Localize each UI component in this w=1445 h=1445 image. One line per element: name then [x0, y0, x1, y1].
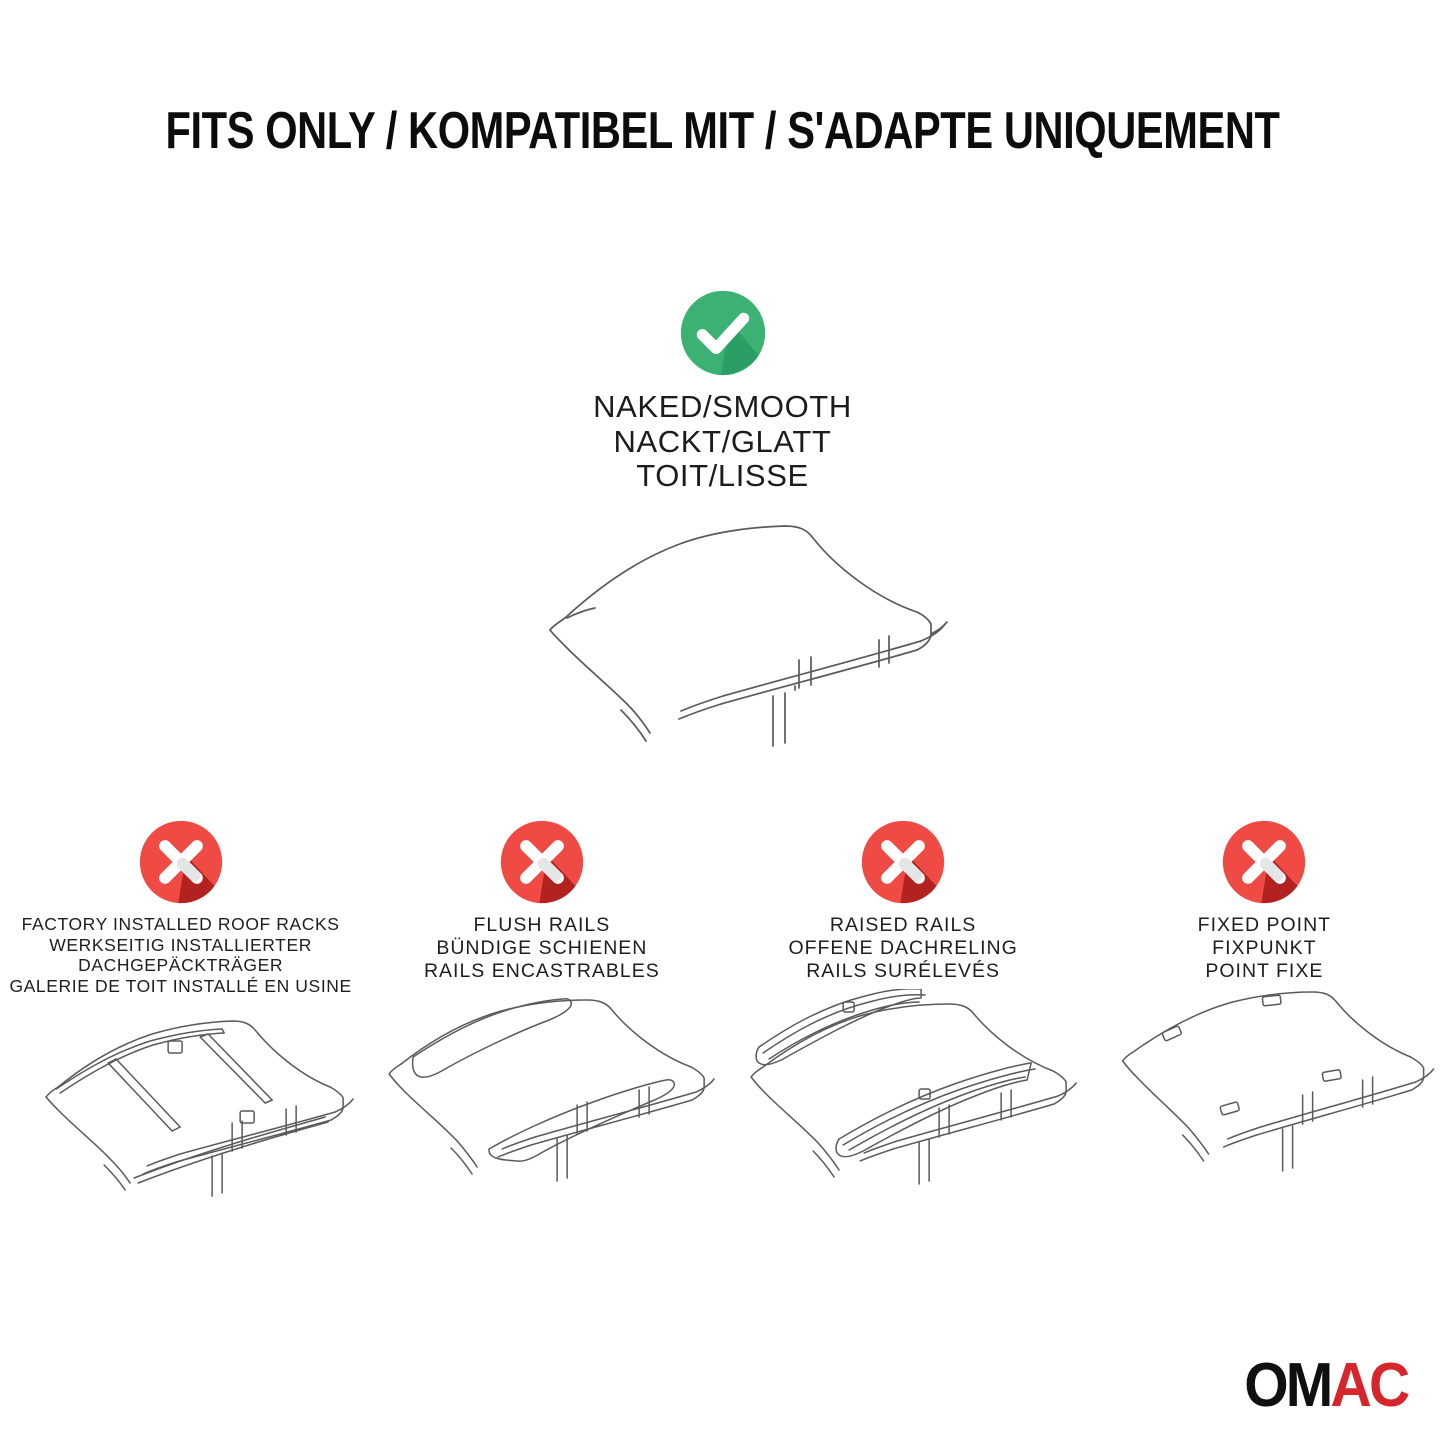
label-line-4: GALERIE DE TOIT INSTALLÉ EN USINE	[9, 976, 351, 997]
red-x-circle-icon	[1222, 820, 1306, 904]
logo-text-dark: OM	[1244, 1355, 1330, 1417]
label-line-2: OFFENE DACHRELING	[788, 937, 1017, 960]
label-line-2: WERKSEITIG INSTALLIERTER	[9, 935, 351, 956]
flush-rails-illustration	[361, 989, 722, 1224]
fixed-point-illustration	[1084, 989, 1445, 1224]
red-x-circle-icon	[500, 820, 584, 904]
factory-roof-rack-illustration	[0, 1003, 361, 1238]
label-line-3: POINT FIXE	[1198, 960, 1331, 983]
incompatible-item-fixed-point: FIXED POINT FIXPUNKT POINT FIXE	[1084, 820, 1445, 1224]
incompatible-item-flush-rails: FLUSH RAILS BÜNDIGE SCHIENEN RAILS ENCAS…	[361, 820, 722, 1224]
logo-text-red: AC	[1330, 1355, 1407, 1417]
page-title: FITS ONLY / KOMPATIBEL MIT / S'ADAPTE UN…	[145, 104, 1301, 159]
label-line-2: FIXPUNKT	[1198, 937, 1331, 960]
green-check-circle-icon	[680, 290, 766, 376]
omac-logo: OMAC	[1244, 1355, 1407, 1417]
incompatible-item-raised-rails: RAISED RAILS OFFENE DACHRELING RAILS SUR…	[723, 820, 1084, 1224]
label-line-2: BÜNDIGE SCHIENEN	[424, 937, 660, 960]
incompatible-item-label: FLUSH RAILS BÜNDIGE SCHIENEN RAILS ENCAS…	[424, 914, 660, 983]
compatible-label: NAKED/SMOOTH NACKT/GLATT TOIT/LISSE	[593, 390, 852, 494]
incompatible-grid: FACTORY INSTALLED ROOF RACKS WERKSEITIG …	[0, 820, 1445, 1300]
label-line-3: DACHGEPÄCKTRÄGER	[9, 955, 351, 976]
compatible-label-line-1: NAKED/SMOOTH	[593, 390, 852, 425]
infographic-page: FITS ONLY / KOMPATIBEL MIT / S'ADAPTE UN…	[0, 0, 1445, 1445]
incompatible-item-label: FIXED POINT FIXPUNKT POINT FIXE	[1198, 914, 1331, 983]
compatible-section: NAKED/SMOOTH NACKT/GLATT TOIT/LISSE	[0, 290, 1445, 494]
incompatible-item-factory-roof-racks: FACTORY INSTALLED ROOF RACKS WERKSEITIG …	[0, 820, 361, 1238]
incompatible-item-label: FACTORY INSTALLED ROOF RACKS WERKSEITIG …	[9, 914, 351, 997]
label-line-1: RAISED RAILS	[788, 914, 1017, 937]
smooth-car-roof-illustration	[455, 500, 995, 750]
red-x-circle-icon	[139, 820, 223, 904]
compatible-label-line-2: NACKT/GLATT	[593, 425, 852, 460]
incompatible-item-label: RAISED RAILS OFFENE DACHRELING RAILS SUR…	[788, 914, 1017, 983]
compatible-label-line-3: TOIT/LISSE	[593, 459, 852, 494]
raised-rails-illustration	[723, 989, 1084, 1224]
label-line-3: RAILS SURÉLEVÉS	[788, 960, 1017, 983]
label-line-1: FLUSH RAILS	[424, 914, 660, 937]
label-line-3: RAILS ENCASTRABLES	[424, 960, 660, 983]
label-line-1: FACTORY INSTALLED ROOF RACKS	[9, 914, 351, 935]
label-line-1: FIXED POINT	[1198, 914, 1331, 937]
red-x-circle-icon	[861, 820, 945, 904]
